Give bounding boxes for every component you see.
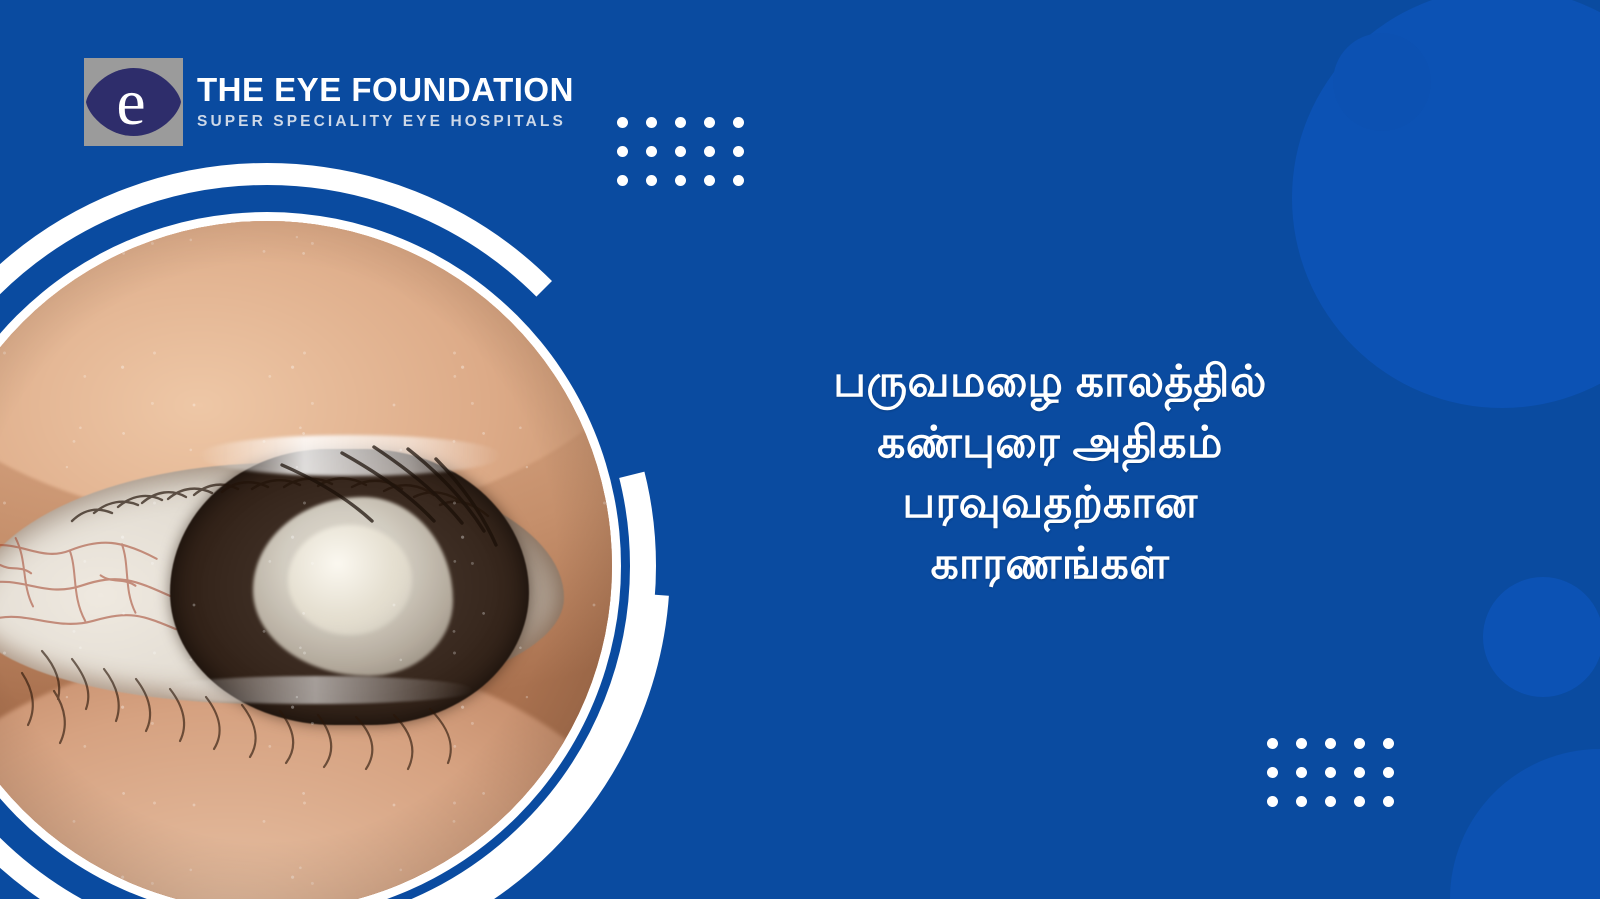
eye-logo-icon: e [84,58,183,146]
dot [1325,738,1336,749]
dot [704,146,715,157]
decorative-circle-small-top [1333,33,1431,131]
dot [1354,796,1365,807]
dot [733,175,744,186]
dot [1383,767,1394,778]
dot [1296,767,1307,778]
dot-grid-bottom [1267,738,1394,807]
brand-logo[interactable]: e THE EYE FOUNDATION SUPER SPECIALITY EY… [84,58,574,146]
logo-subtitle: SUPER SPECIALITY EYE HOSPITALS [197,113,574,131]
headline-line-4: காரணங்கள் [700,534,1400,595]
headline-line-3: பரவுவதற்கான [700,473,1400,534]
dot [617,117,628,128]
headline: பருவமழை காலத்தில் கண்புரை அதிகம் பரவுவதற… [700,352,1400,595]
dot [1296,796,1307,807]
dot [733,146,744,157]
dot [1354,738,1365,749]
dot [675,146,686,157]
banner-canvas: e THE EYE FOUNDATION SUPER SPECIALITY EY… [0,0,1600,899]
dot [1325,796,1336,807]
dot [1267,738,1278,749]
dot [1354,767,1365,778]
dot [1383,796,1394,807]
dot [733,117,744,128]
decorative-circle-large-top [1292,0,1600,408]
dot [1383,738,1394,749]
logo-letter: e [116,66,145,139]
logo-wordmark: THE EYE FOUNDATION SUPER SPECIALITY EYE … [197,73,574,131]
dot [1267,796,1278,807]
eye-photo-composition [0,163,670,899]
headline-line-1: பருவமழை காலத்தில் [700,352,1400,413]
dot [675,175,686,186]
eye-photo [0,221,612,899]
dot [617,146,628,157]
decorative-circle-mid-right [1483,577,1600,697]
dot [675,117,686,128]
headline-line-2: கண்புரை அதிகம் [700,413,1400,474]
dot [1296,738,1307,749]
dot [704,175,715,186]
dot [1325,767,1336,778]
decorative-circle-bottom-right [1450,749,1600,899]
eye-logo-glyph: e [84,58,183,146]
dot [1267,767,1278,778]
dot [704,117,715,128]
dot [646,146,657,157]
dot [646,117,657,128]
logo-title: THE EYE FOUNDATION [197,73,574,107]
